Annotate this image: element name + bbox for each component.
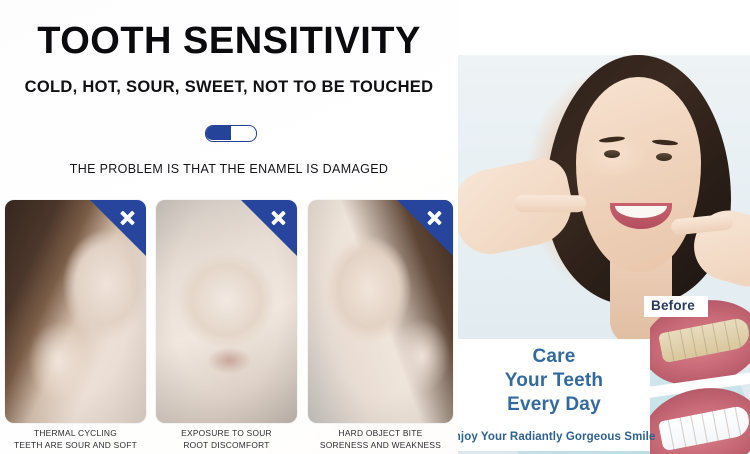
after-mouth-photo xyxy=(650,385,750,454)
pill-divider-fill xyxy=(205,125,231,140)
symptom-panel-thermal-cycling[interactable] xyxy=(5,200,146,423)
hero-photo-smiling-woman: Before Care Your Teeth Every Day Enjoy Y… xyxy=(458,55,750,454)
promo-line-1: Care xyxy=(458,345,650,369)
promo-line-2: Your Teeth xyxy=(458,369,650,393)
page-title: TOOTH SENSITIVITY xyxy=(0,22,458,62)
subtitle-symptoms: COLD, HOT, SOUR, SWEET, NOT TO BE TOUCHE… xyxy=(0,78,458,97)
symptom-caption-group: THERMAL CYCLING TEETH ARE SOUR AND SOFT … xyxy=(5,428,453,454)
photo-vignette xyxy=(5,200,146,423)
problem-statement: THE PROBLEM IS THAT THE ENAMEL IS DAMAGE… xyxy=(0,162,458,176)
caption-line-1: EXPOSURE TO SOUR xyxy=(181,428,272,438)
caption-line-2: TEETH ARE SOUR AND SOFT xyxy=(5,440,146,452)
promo-line-3: Every Day xyxy=(458,393,650,417)
right-hero-column: Before Care Your Teeth Every Day Enjoy Y… xyxy=(458,0,750,454)
promo-message: Care Your Teeth Every Day xyxy=(458,345,650,417)
hero-eye-left xyxy=(604,150,620,158)
caption-line-2: ROOT DISCOMFORT xyxy=(156,440,297,452)
hero-pointing-finger-left xyxy=(514,195,586,212)
before-label: Before xyxy=(651,298,695,313)
before-after-comparison xyxy=(650,297,750,454)
symptom-caption: THERMAL CYCLING TEETH ARE SOUR AND SOFT xyxy=(5,428,146,451)
caption-line-1: HARD OBJECT BITE xyxy=(339,428,423,438)
pill-divider-icon xyxy=(205,125,257,142)
symptom-panel-hard-object-bite[interactable] xyxy=(308,200,453,423)
hero-eye-right xyxy=(656,153,672,161)
symptom-panel-exposure-to-sour[interactable] xyxy=(156,200,297,423)
hero-teeth xyxy=(615,206,667,218)
promo-tagline: Enjoy Your Radiantly Gorgeous Smile xyxy=(458,431,654,443)
symptom-panel-group xyxy=(5,200,453,423)
tooth-sensitivity-poster: TOOTH SENSITIVITY COLD, HOT, SOUR, SWEET… xyxy=(0,0,750,454)
photo-vignette xyxy=(156,200,297,423)
symptom-caption: HARD OBJECT BITE SORENESS AND WEAKNESS xyxy=(308,428,453,451)
symptom-caption: EXPOSURE TO SOUR ROOT DISCOMFORT xyxy=(156,428,297,451)
left-content-column: TOOTH SENSITIVITY COLD, HOT, SOUR, SWEET… xyxy=(0,0,458,454)
caption-line-2: SORENESS AND WEAKNESS xyxy=(308,440,453,452)
caption-line-1: THERMAL CYCLING xyxy=(34,428,117,438)
photo-vignette xyxy=(308,200,453,423)
